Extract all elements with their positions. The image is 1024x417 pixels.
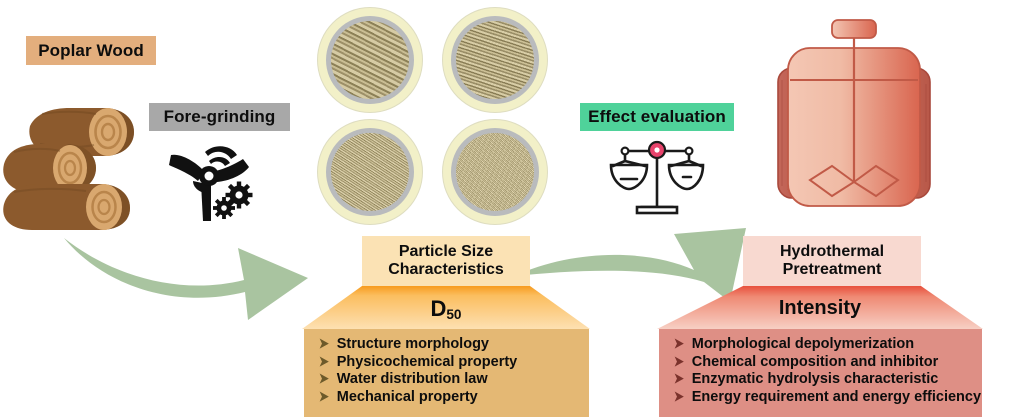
list-item-label: Energy requirement and energy efficiency bbox=[692, 390, 981, 405]
intensity-metric-band: Intensity bbox=[655, 286, 985, 331]
effect-evaluation-label: Effect evaluation bbox=[580, 103, 734, 131]
d50-metric: D50 bbox=[430, 296, 461, 322]
balance-scale-icon bbox=[607, 133, 707, 219]
list-item: ➤ Chemical composition and inhibitor bbox=[673, 354, 982, 370]
arrow-bullet-icon: ➤ bbox=[319, 336, 329, 350]
arrow-bullet-icon: ➤ bbox=[319, 371, 329, 385]
list-item: ➤ Enzymatic hydrolysis characteristic bbox=[673, 371, 982, 387]
grinder-blade-icon bbox=[163, 137, 259, 223]
list-item: ➤ Energy requirement and energy efficien… bbox=[673, 389, 982, 405]
dish-inner bbox=[326, 128, 414, 216]
wood-logs-icon bbox=[0, 86, 142, 232]
intensity-metric: Intensity bbox=[779, 297, 861, 320]
particle-size-podium: Particle Size Characteristics D50 ➤ bbox=[300, 236, 592, 417]
arrow-bullet-icon: ➤ bbox=[319, 354, 329, 368]
hydrothermal-title: Hydrothermal Pretreatment bbox=[743, 236, 921, 286]
list-item: ➤ Morphological depolymerization bbox=[673, 336, 982, 352]
dish-inner bbox=[451, 128, 539, 216]
stirred-reactor-icon bbox=[760, 10, 948, 232]
sample-dish-fine bbox=[443, 120, 547, 224]
attribute-list: ➤ Morphological depolymerization ➤ Chemi… bbox=[673, 336, 982, 404]
list-item: ➤ Structure morphology bbox=[318, 336, 589, 352]
title-line-2: Characteristics bbox=[388, 261, 504, 279]
sample-dish-coarse bbox=[318, 8, 422, 112]
list-item-label: Water distribution law bbox=[337, 372, 488, 387]
arrow-bullet-icon: ➤ bbox=[674, 371, 684, 385]
ground-powder bbox=[331, 21, 409, 99]
ground-powder bbox=[331, 133, 409, 211]
d50-letter: D bbox=[430, 296, 446, 321]
poplar-wood-label: Poplar Wood bbox=[26, 36, 156, 65]
hydrothermal-attributes: ➤ Morphological depolymerization ➤ Chemi… bbox=[659, 329, 982, 417]
sample-dish-medium-fine bbox=[318, 120, 422, 224]
particle-size-attributes: ➤ Structure morphology ➤ Physicochemical… bbox=[304, 329, 589, 417]
hydrothermal-pretreatment-podium: Hydrothermal Pretreatment Intensity ➤ bbox=[655, 236, 985, 417]
arrow-bullet-icon: ➤ bbox=[674, 354, 684, 368]
list-item-label: Chemical composition and inhibitor bbox=[692, 355, 939, 370]
list-item-label: Structure morphology bbox=[337, 337, 489, 352]
graphical-abstract: Poplar Wood bbox=[0, 0, 1024, 417]
title-line-2: Pretreatment bbox=[783, 261, 882, 279]
dish-inner bbox=[326, 16, 414, 104]
d50-subscript: 50 bbox=[446, 307, 461, 322]
arrow-bullet-icon: ➤ bbox=[674, 336, 684, 350]
list-item: ➤ Water distribution law bbox=[318, 371, 589, 387]
title-line-1: Hydrothermal bbox=[780, 243, 884, 261]
list-item-label: Morphological depolymerization bbox=[692, 337, 914, 352]
list-item-label: Physicochemical property bbox=[337, 355, 518, 370]
dish-inner bbox=[451, 16, 539, 104]
list-item-label: Enzymatic hydrolysis characteristic bbox=[692, 372, 939, 387]
sample-dish-medium-coarse bbox=[443, 8, 547, 112]
ground-powder bbox=[456, 21, 534, 99]
particle-size-metric-band: D50 bbox=[300, 286, 592, 331]
ground-powder bbox=[456, 133, 534, 211]
curved-arrow-icon bbox=[52, 218, 324, 322]
arrow-bullet-icon: ➤ bbox=[319, 389, 329, 403]
list-item-label: Mechanical property bbox=[337, 390, 478, 405]
arrow-bullet-icon: ➤ bbox=[674, 389, 684, 403]
particle-size-title: Particle Size Characteristics bbox=[362, 236, 530, 286]
fore-grinding-label: Fore-grinding bbox=[149, 103, 290, 131]
list-item: ➤ Physicochemical property bbox=[318, 354, 589, 370]
attribute-list: ➤ Structure morphology ➤ Physicochemical… bbox=[318, 336, 589, 404]
list-item: ➤ Mechanical property bbox=[318, 389, 589, 405]
title-line-1: Particle Size bbox=[399, 243, 493, 261]
